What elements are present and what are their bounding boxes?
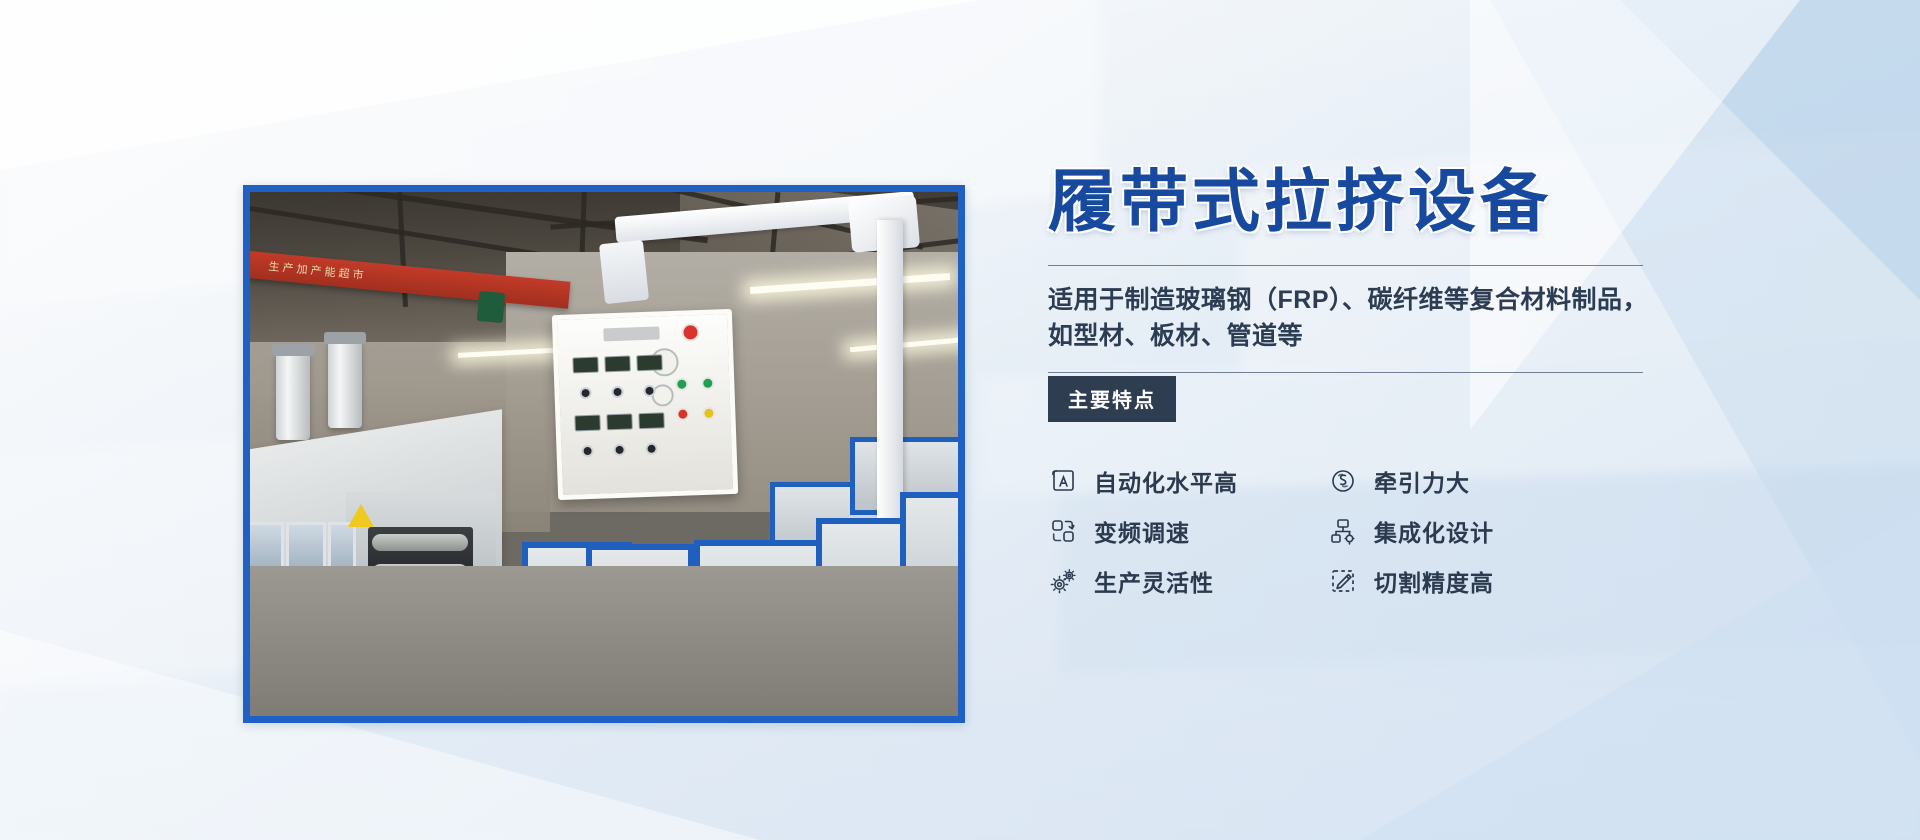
panel-meter — [606, 413, 633, 430]
panel-brand-logo — [603, 326, 659, 341]
product-photo[interactable]: 生 产 加 产 能 超 市 — [243, 185, 965, 723]
feature-label: 变频调速 — [1094, 514, 1190, 548]
panel-indicator-yellow — [702, 407, 715, 420]
panel-knob — [613, 444, 625, 456]
feature-label: 集成化设计 — [1374, 514, 1494, 548]
hero-subtitle: 适用于制造玻璃钢（FRP）、碳纤维等复合材料制品，如型材、板材、管道等 — [1048, 283, 1648, 354]
status-badge: 主要特点 — [1048, 376, 1176, 422]
hydraulic-cylinder — [276, 352, 310, 440]
warning-triangle-icon — [348, 504, 374, 527]
divider-bottom — [1048, 372, 1643, 373]
panel-indicator-green — [675, 377, 688, 390]
page-title: 履带式拉挤设备 — [1048, 168, 1668, 236]
cutting-precision-pen-icon — [1328, 566, 1358, 596]
panel-knob — [579, 387, 591, 399]
feature-item-frequency[interactable]: 变频调速 — [1048, 506, 1328, 556]
caterpillar-roller — [372, 534, 468, 551]
feature-item-flexibility[interactable]: 生产灵活性 — [1048, 556, 1328, 606]
hero-content: 履带式拉挤设备 适用于制造玻璃钢（FRP）、碳纤维等复合材料制品，如型材、板材、… — [1048, 168, 1668, 606]
feature-label: 牵引力大 — [1374, 464, 1470, 498]
feature-label: 自动化水平高 — [1094, 464, 1238, 498]
feature-item-traction[interactable]: 牵引力大 — [1328, 456, 1608, 506]
divider-top — [1048, 265, 1643, 266]
crane-hoist — [477, 291, 506, 323]
product-hero-banner: 生 产 加 产 能 超 市 — [0, 0, 1920, 840]
automation-square-a-icon — [1048, 466, 1078, 496]
feature-label: 生产灵活性 — [1094, 564, 1214, 598]
panel-meter — [638, 412, 665, 429]
cylinder-cap — [272, 344, 314, 356]
feature-item-integrated[interactable]: 集成化设计 — [1328, 506, 1608, 556]
badge-row: 主要特点 — [1048, 372, 1668, 412]
traction-wave-circle-icon — [1328, 466, 1358, 496]
gears-flexibility-icon — [1048, 566, 1078, 596]
panel-meter — [574, 415, 601, 432]
feature-item-cutting[interactable]: 切割精度高 — [1328, 556, 1608, 606]
panel-knob — [611, 386, 623, 398]
panel-knob — [645, 443, 657, 455]
feature-list: 自动化水平高 牵引力大 — [1048, 456, 1668, 606]
feature-label: 切割精度高 — [1374, 564, 1494, 598]
product-photo-image: 生 产 加 产 能 超 市 — [250, 192, 958, 716]
panel-indicator-green — [701, 377, 714, 390]
integrated-design-node-icon — [1328, 516, 1358, 546]
hydraulic-cylinder — [328, 340, 362, 428]
panel-knob — [581, 445, 593, 457]
factory-floor — [250, 566, 958, 716]
panel-indicator-red — [676, 407, 689, 420]
machine-control-panel — [552, 309, 738, 500]
gantry-arm — [599, 240, 649, 304]
background-triangle — [0, 0, 980, 170]
cylinder-cap — [324, 332, 366, 344]
crane-beam-text: 生 产 加 产 能 超 市 — [268, 258, 364, 283]
panel-meter — [572, 357, 599, 374]
panel-meter — [604, 355, 631, 372]
panel-indicator-red — [681, 323, 700, 342]
frequency-convert-icon — [1048, 516, 1078, 546]
feature-item-automation[interactable]: 自动化水平高 — [1048, 456, 1328, 506]
panel-meter — [636, 354, 663, 371]
